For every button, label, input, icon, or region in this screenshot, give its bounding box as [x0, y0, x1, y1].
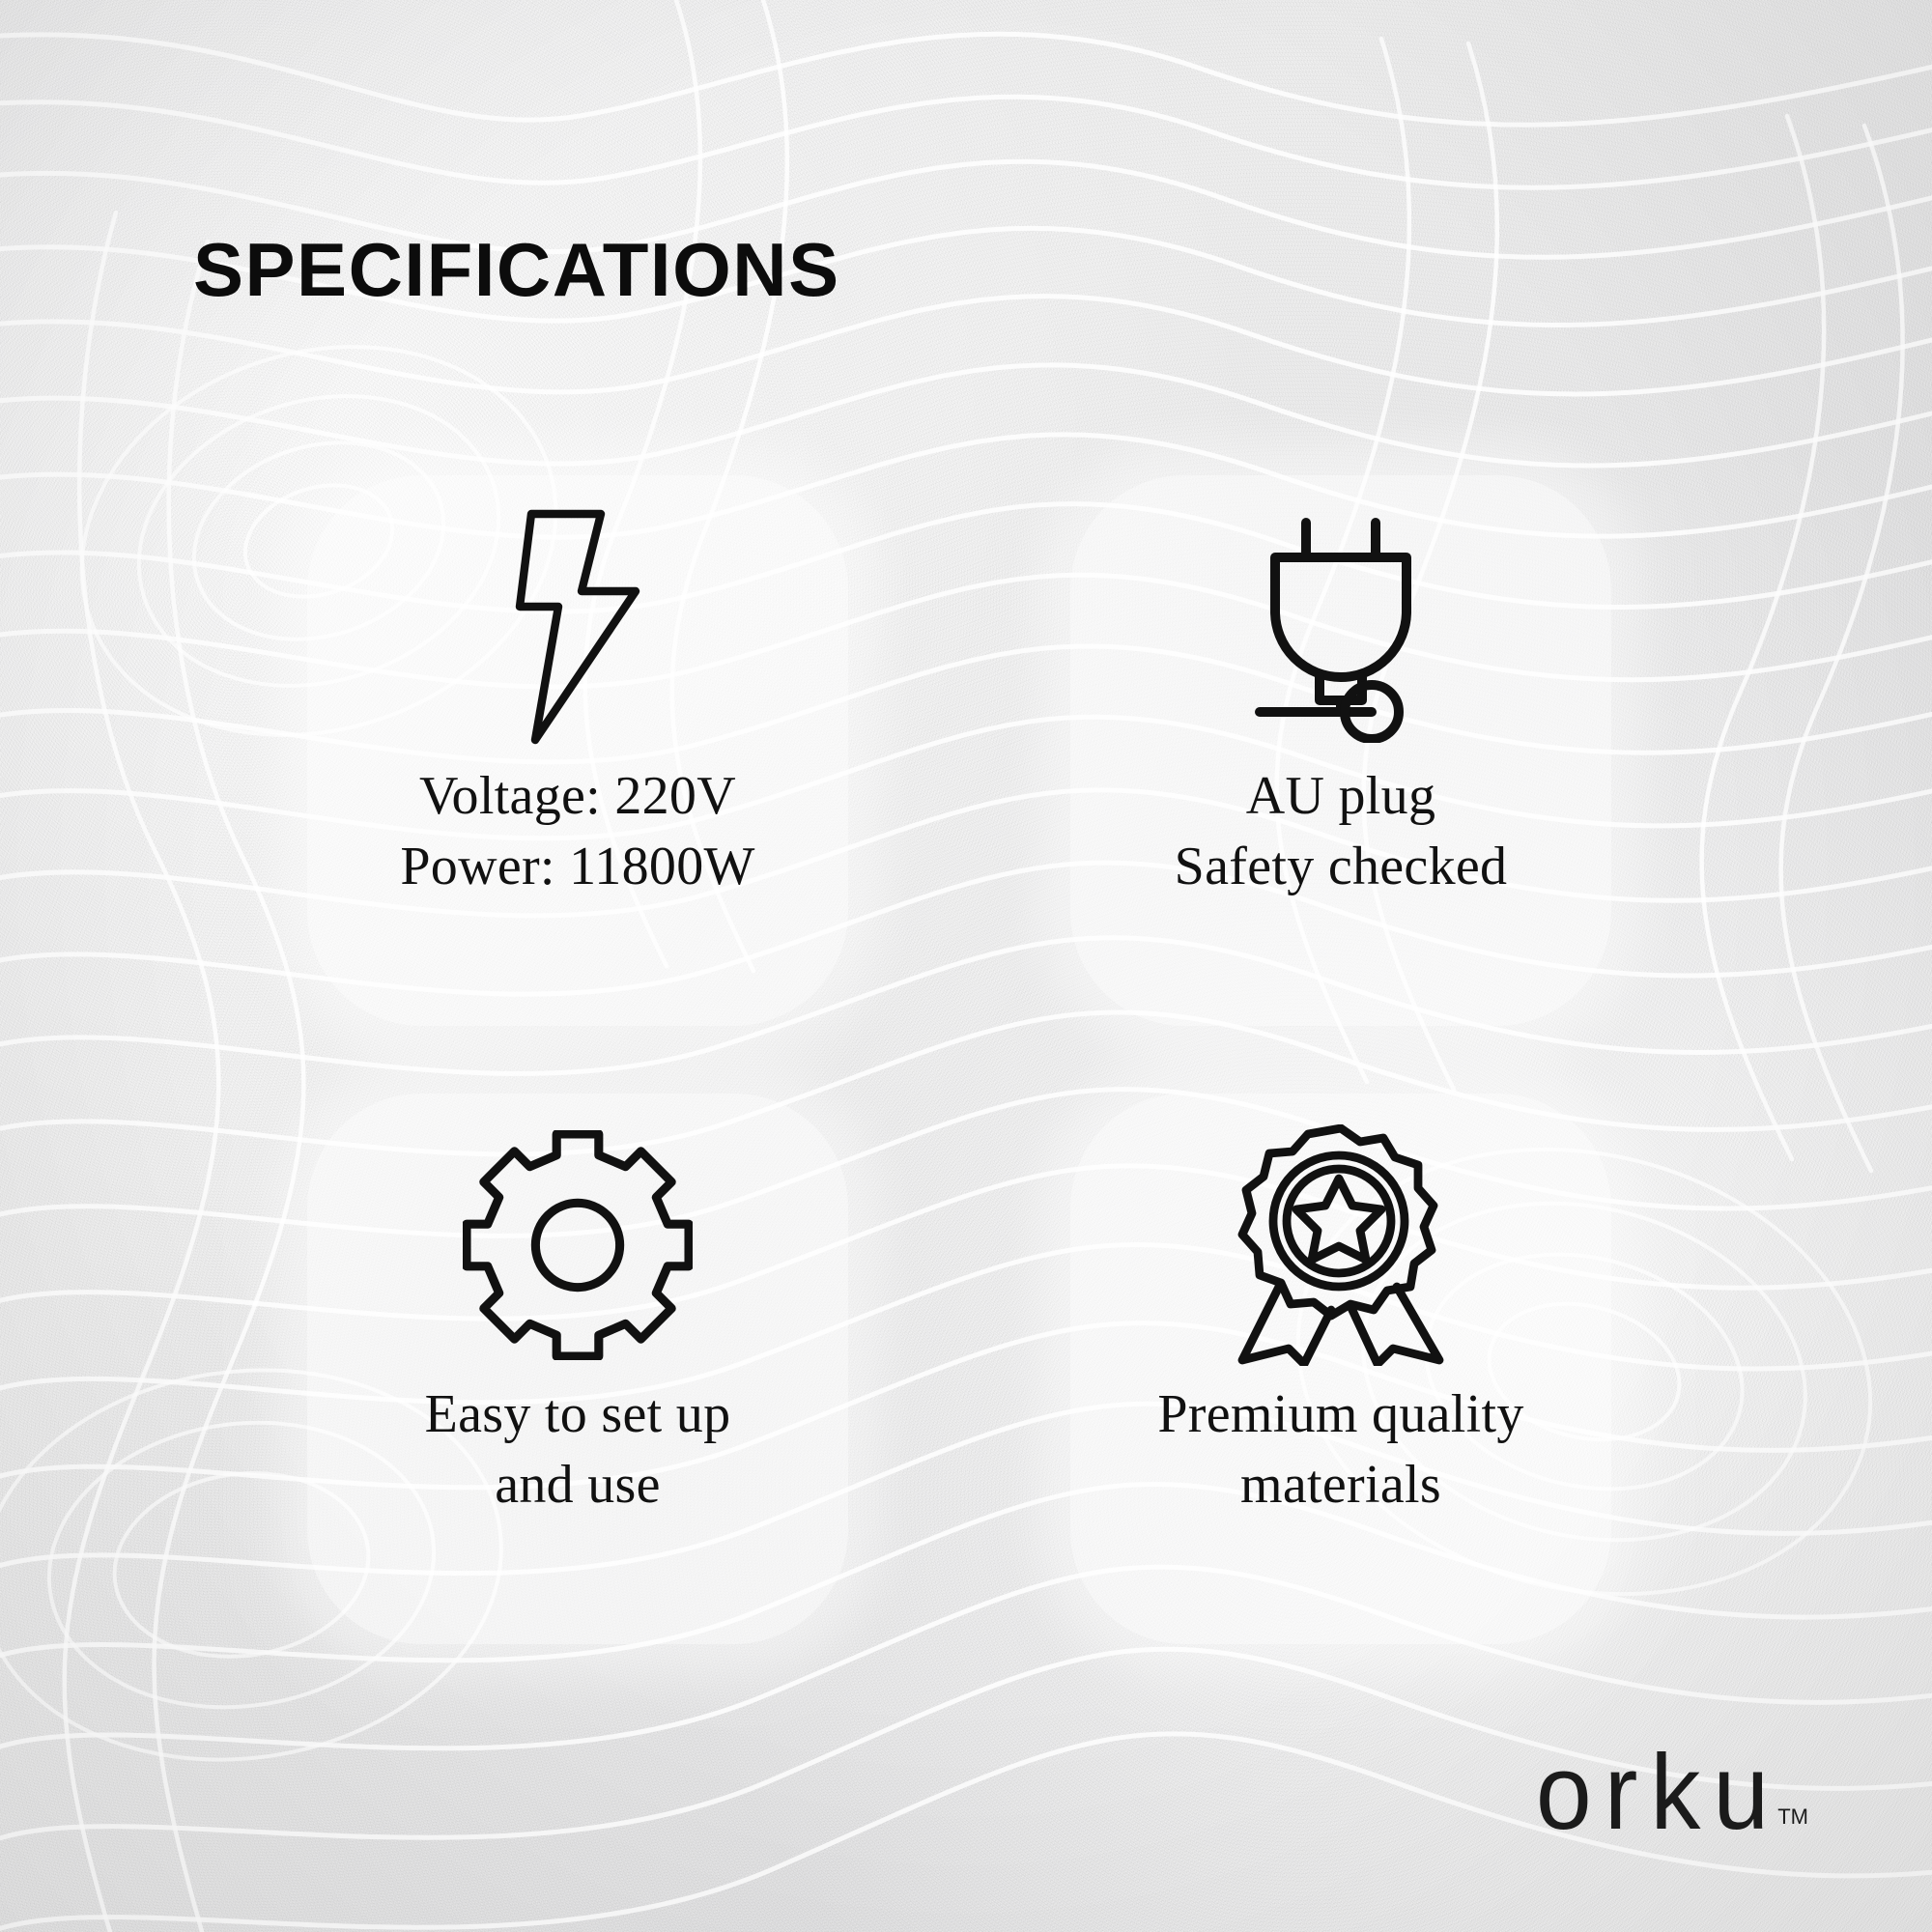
power-plug-icon — [1240, 493, 1441, 761]
spec-line: AU plug — [1175, 761, 1508, 832]
spec-card-premium-quality[interactable]: Premium quality materials — [1070, 1094, 1611, 1644]
spec-card-text: Voltage: 220V Power: 11800W — [377, 761, 778, 902]
specifications-poster: SPECIFICATIONS Voltage: 220V Power: 1180… — [0, 0, 1932, 1932]
spec-line: materials — [1157, 1450, 1523, 1520]
spec-card-voltage-power[interactable]: Voltage: 220V Power: 11800W — [307, 475, 848, 1026]
spec-line: Power: 11800W — [400, 832, 754, 902]
brand-logo: orku TM — [1536, 1750, 1808, 1843]
spec-card-easy-setup[interactable]: Easy to set up and use — [307, 1094, 848, 1644]
page-title: SPECIFICATIONS — [193, 232, 840, 307]
spec-line: Premium quality — [1157, 1379, 1523, 1450]
lightning-bolt-icon — [481, 493, 674, 761]
trademark-symbol: TM — [1777, 1804, 1808, 1830]
spec-line: Voltage: 220V — [400, 761, 754, 832]
specs-grid: Voltage: 220V Power: 11800W AU plug S — [307, 475, 1660, 1644]
gear-icon — [463, 1111, 693, 1379]
spec-line: Easy to set up — [425, 1379, 731, 1450]
spec-line: Safety checked — [1175, 832, 1508, 902]
spec-card-au-plug-safety[interactable]: AU plug Safety checked — [1070, 475, 1611, 1026]
award-badge-icon — [1227, 1111, 1455, 1379]
spec-card-text: AU plug Safety checked — [1151, 761, 1531, 902]
spec-card-text: Easy to set up and use — [402, 1379, 754, 1520]
brand-logo-wordmark: orku — [1536, 1746, 1781, 1843]
spec-card-text: Premium quality materials — [1134, 1379, 1547, 1520]
spec-line: and use — [425, 1450, 731, 1520]
